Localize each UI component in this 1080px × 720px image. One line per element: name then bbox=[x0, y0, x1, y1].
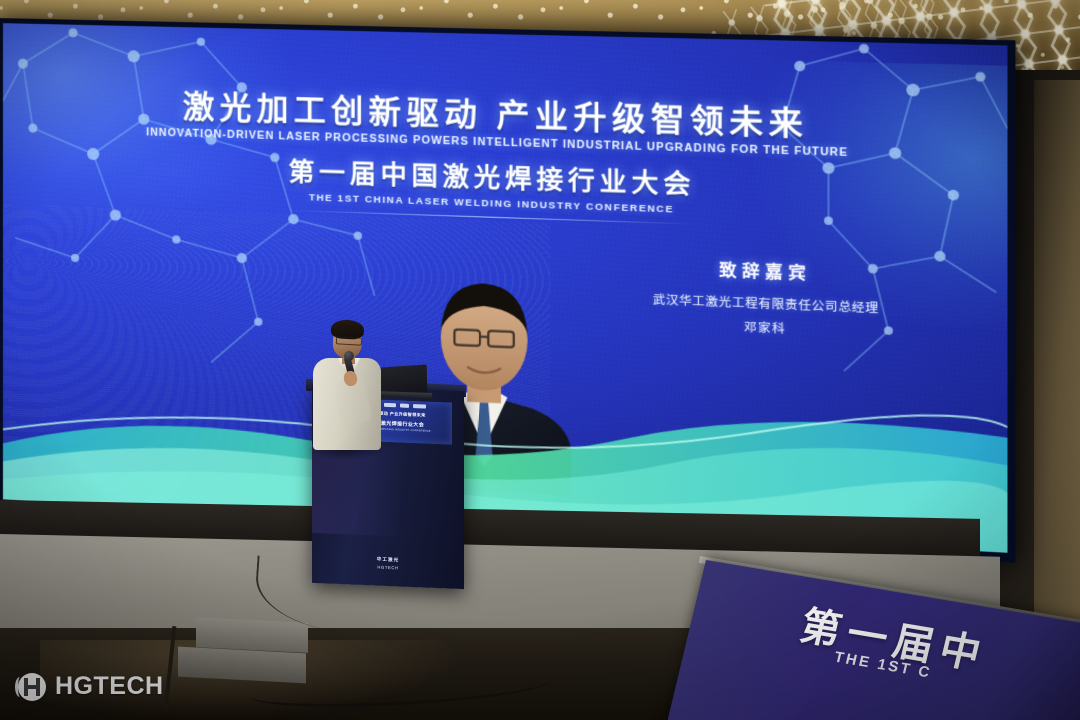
led-screen: 激光加工创新驱动 产业升级智领未来 INNOVATION-DRIVEN LASE… bbox=[3, 23, 1008, 553]
speaker-glasses-icon bbox=[336, 336, 362, 345]
wall-right-panel bbox=[1034, 80, 1080, 640]
hgtech-logo-icon bbox=[18, 673, 46, 701]
hgtech-logo-text: HGTECH bbox=[55, 672, 164, 701]
sponsor-logo-5-icon bbox=[413, 404, 426, 409]
sponsor-logo-3-icon bbox=[384, 403, 396, 408]
led-screen-frame: 激光加工创新驱动 产业升级智领未来 INNOVATION-DRIVEN LASE… bbox=[0, 18, 1015, 563]
sponsor-logo-4-icon bbox=[400, 404, 409, 408]
hgtech-watermark: HGTECH bbox=[18, 672, 164, 701]
microphone-head-icon bbox=[344, 351, 354, 361]
speaker-caption-block: 致辞嘉宾 武汉华工激光工程有限责任公司总经理 邓家科 bbox=[590, 251, 943, 343]
conference-photo: 激光加工创新驱动 产业升级智领未来 INNOVATION-DRIVEN LASE… bbox=[0, 0, 1080, 720]
podium-footer: 华工激光 HGTECH bbox=[328, 554, 448, 572]
